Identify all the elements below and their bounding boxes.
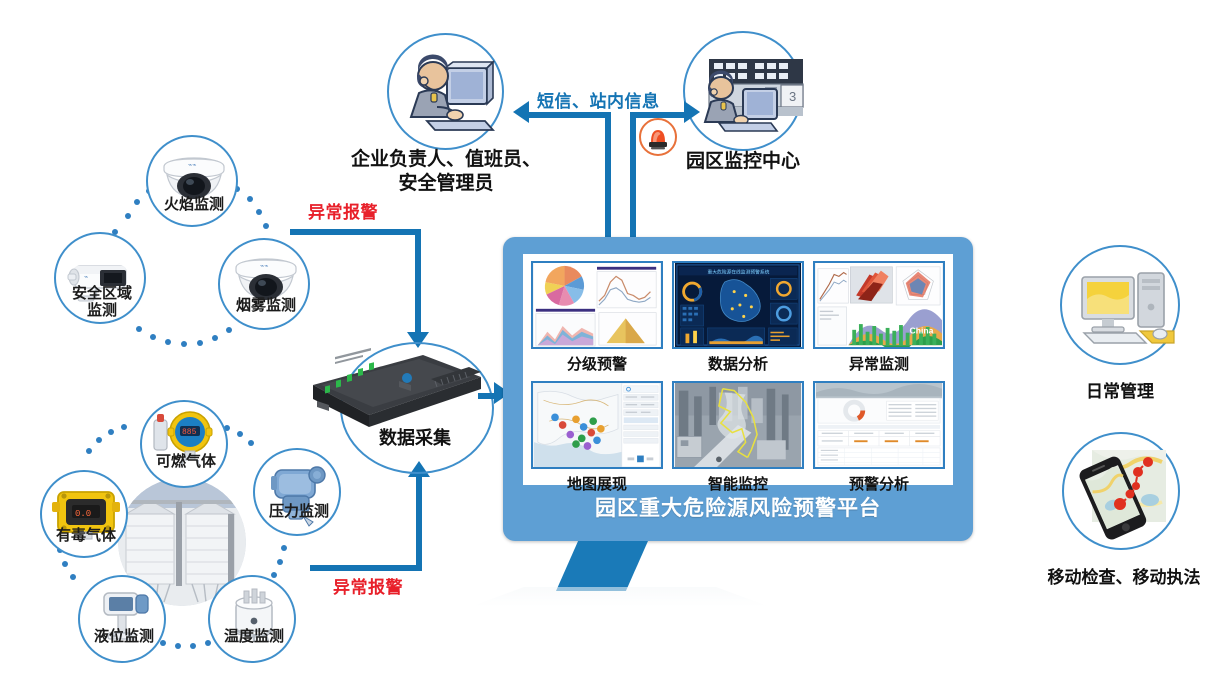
caption-data-analysis: 数据分析 [672,353,804,374]
tile-map-presentation[interactable] [531,381,663,469]
label-mobile-inspection: 移动检查、移动执法 [1024,563,1224,588]
svg-text:重大危险源在线监测预警系统: 重大危险源在线监测预警系统 [707,269,769,276]
label-temperature-monitoring: 温度监测 [202,629,306,646]
label-alarm-top: 异常报警 [308,198,378,223]
map-markers-thumb [533,383,661,467]
gateway-device-icon [303,345,483,435]
dome-camera-icon: ⌁⌁ [220,240,312,332]
label-toxic-gas: 有毒气体 [34,528,138,545]
tile-graded-warning[interactable] [531,261,663,349]
caption-park-monitoring-center: 园区监控中心 [663,150,823,174]
caption-enterprise-staff: 企业负责人、值班员、 安全管理员 [335,148,557,197]
connector-alarm-bottom-vertical [416,477,422,567]
caption-map-presentation: 地图展现 [531,473,663,494]
cctv-detection-thumb [674,383,802,467]
caption-intelligent-monitoring: 智能监控 [672,473,804,494]
arrow-to-enterprise-staff [513,101,529,123]
node-smoke-detection[interactable]: ⌁⌁ 烟雾监测 [218,238,310,330]
report-table-thumb [815,383,943,467]
label-safe-area-detection: 安全区域 监测 [50,286,154,320]
connector-alarm-top-vertical [415,229,421,332]
dome-camera-icon: ⌁⌁ [148,137,240,229]
node-combustible-gas[interactable]: 885 可燃气体 [140,400,228,488]
caption-graded-warning: 分级预警 [531,353,663,374]
platform-monitor: 分级预警 重大危险源在线监测预警系统 [503,237,973,541]
connector-alarm-top-horizontal [290,229,421,235]
pressure-transmitter-icon [255,450,343,538]
tile-warning-analysis[interactable] [813,381,945,469]
node-park-monitoring-center[interactable]: 3 [683,31,803,151]
label-daily-management: 日常管理 [1058,377,1182,402]
dark-gis-dashboard-thumb: 重大危险源在线监测预警系统 [674,263,802,347]
connector-alarm-bottom-horizontal [310,565,422,571]
beacon-ring [639,118,677,156]
node-mobile-inspection[interactable] [1062,432,1180,550]
node-daily-management[interactable] [1060,245,1180,365]
tile-intelligent-monitoring[interactable] [672,381,804,469]
label-combustible-gas: 可燃气体 [134,454,238,471]
svg-text:⌁: ⌁ [84,274,88,281]
diagram-canvas: 企业负责人、值班员、 安全管理员 3 [0,0,1229,685]
operator-at-desktop-icon [389,35,506,152]
label-sms-channel: 短信、站内信息 [537,87,660,112]
caption-warning-analysis: 预警分析 [813,473,945,494]
node-safe-area-detection[interactable]: ⌁ 安全区域 监测 [54,232,146,324]
svg-text:3: 3 [789,89,796,104]
label-flame-detection: 火焰监测 [142,197,246,214]
connector-sms-right-vertical [630,112,636,252]
tile-data-analysis[interactable]: 重大危险源在线监测预警系统 [672,261,804,349]
charts-dashboard-thumb [533,263,661,347]
level-meter-icon [80,577,168,665]
node-temperature-monitoring[interactable]: 温度监测 [208,575,296,663]
platform-screen: 分级预警 重大危险源在线监测预警系统 [523,254,953,485]
svg-text:⌁⌁: ⌁⌁ [188,162,196,169]
platform-tile-grid: 分级预警 重大危险源在线监测预警系统 [531,261,945,478]
svg-text:885: 885 [182,428,197,437]
svg-text:⌁⌁: ⌁⌁ [260,263,268,270]
label-data-acquisition: 数据采集 [355,424,475,450]
node-flame-detection[interactable]: ⌁⌁ 火焰监测 [146,135,238,227]
node-enterprise-staff[interactable] [387,33,504,150]
temperature-tank-icon [210,577,298,665]
smartphone-map-icon [1064,434,1182,552]
connector-sms-left-vertical [605,112,611,252]
monitor-stand-neck [556,541,648,591]
svg-text:0.0: 0.0 [75,509,91,519]
gas-detector-icon: 885 [142,402,230,490]
operator-at-control-room-icon: 3 [685,33,805,153]
desktop-computer-icon [1062,247,1182,367]
tile-abnormal-monitoring[interactable]: China [813,261,945,349]
arrow-to-monitoring-center [684,101,700,123]
svg-text:China: China [910,326,934,336]
label-level-monitoring: 液位监测 [72,629,176,646]
caption-abnormal-monitoring: 异常监测 [813,353,945,374]
label-pressure-monitoring: 压力监测 [247,504,351,521]
node-level-monitoring[interactable]: 液位监测 [78,575,166,663]
node-pressure-monitoring[interactable]: 压力监测 [253,448,341,536]
monitor-stand-base [470,587,770,607]
toxic-gas-detector-icon: 0.0 [42,472,130,560]
platform-title: 园区重大危险源风险预警平台 [503,492,973,522]
node-toxic-gas[interactable]: 0.0 有毒气体 [40,470,128,558]
label-smoke-detection: 烟雾监测 [214,298,318,315]
alarm-beacon-icon [641,120,675,154]
connector-sms-left-horizontal [529,112,609,118]
analytics-surface-thumb: China [815,263,943,347]
label-alarm-bottom: 异常报警 [333,573,403,598]
